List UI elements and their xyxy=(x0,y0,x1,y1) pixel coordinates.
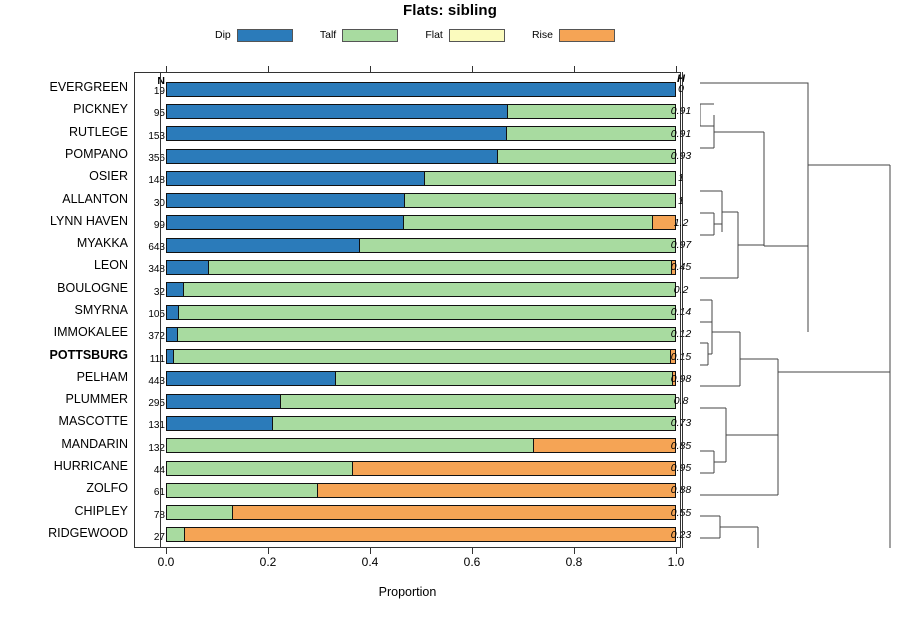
x-tick-label: 0.4 xyxy=(350,555,390,569)
bar-segment-dip xyxy=(167,395,280,408)
row-label: SMYRNA xyxy=(0,303,128,317)
row-label: BOULOGNE xyxy=(0,281,128,295)
legend-swatch-flat xyxy=(449,29,505,42)
bar-segment-dip xyxy=(167,83,675,96)
row-label: ALLANTON xyxy=(0,192,128,206)
row-h-value: 1 xyxy=(664,195,698,207)
row-h-value: 0.91 xyxy=(664,128,698,140)
bar-segment-dip xyxy=(167,306,178,319)
bar-segment-talf xyxy=(506,127,675,140)
row-h-value: 0.12 xyxy=(664,328,698,340)
page-title: Flats: sibling xyxy=(0,2,900,19)
x-tick-top xyxy=(370,66,371,72)
x-tick xyxy=(370,548,371,554)
stacked-bar xyxy=(166,327,676,342)
row-h-value: 0.98 xyxy=(664,373,698,385)
stacked-bar xyxy=(166,193,676,208)
row-label: LEON xyxy=(0,258,128,272)
legend-item-talf: Talf xyxy=(320,29,398,42)
row-h-value: 0.8 xyxy=(664,395,698,407)
row-h-value: 0.14 xyxy=(664,306,698,318)
row-h-value: 0.91 xyxy=(664,105,698,117)
row-h-value: 1 xyxy=(664,172,698,184)
bar-segment-talf xyxy=(272,417,675,430)
x-tick xyxy=(472,548,473,554)
stacked-bar xyxy=(166,461,676,476)
h-column-divider xyxy=(682,72,683,548)
x-tick-top xyxy=(268,66,269,72)
x-tick-label: 1.0 xyxy=(656,555,696,569)
row-h-value: 0.23 xyxy=(664,529,698,541)
row-h-value: 0.55 xyxy=(664,507,698,519)
row-label: POMPANO xyxy=(0,147,128,161)
x-tick xyxy=(676,548,677,554)
row-h-value: 0.88 xyxy=(664,484,698,496)
stacked-bar xyxy=(166,171,676,186)
bar-segment-dip xyxy=(167,127,506,140)
legend-item-rise: Rise xyxy=(532,29,615,42)
bar-segment-talf xyxy=(167,439,533,452)
row-label: ZOLFO xyxy=(0,481,128,495)
row-label: PICKNEY xyxy=(0,102,128,116)
n-column-divider xyxy=(160,72,161,548)
row-label: EVERGREEN xyxy=(0,80,128,94)
row-h-value: 0.95 xyxy=(664,462,698,474)
stacked-bar xyxy=(166,305,676,320)
bar-segment-talf xyxy=(167,484,317,497)
bar-segment-talf xyxy=(183,283,675,296)
legend-swatch-dip xyxy=(237,29,293,42)
legend-label: Talf xyxy=(320,29,336,41)
bar-segment-dip xyxy=(167,172,424,185)
bar-segment-talf xyxy=(403,216,652,229)
stacked-bar xyxy=(166,394,676,409)
x-tick xyxy=(268,548,269,554)
row-h-value: 0.45 xyxy=(664,261,698,273)
bar-segment-rise xyxy=(184,528,675,541)
x-tick-label: 0.6 xyxy=(452,555,492,569)
row-label: PELHAM xyxy=(0,370,128,384)
stacked-bar xyxy=(166,215,676,230)
bar-segment-dip xyxy=(167,239,359,252)
bar-segment-talf xyxy=(167,528,184,541)
bar-segment-dip xyxy=(167,328,177,341)
x-tick-label: 0.2 xyxy=(248,555,288,569)
row-h-value: 0.85 xyxy=(664,440,698,452)
stacked-bar xyxy=(166,438,676,453)
bar-segment-rise xyxy=(533,439,675,452)
bar-segment-dip xyxy=(167,417,272,430)
stacked-bar xyxy=(166,416,676,431)
row-h-value: 0.97 xyxy=(664,239,698,251)
legend-swatch-rise xyxy=(559,29,615,42)
stacked-bar xyxy=(166,238,676,253)
stacked-bar xyxy=(166,260,676,275)
bar-segment-talf xyxy=(497,150,675,163)
x-tick-label: 0.8 xyxy=(554,555,594,569)
bar-segment-rise xyxy=(352,462,675,475)
bar-segment-dip xyxy=(167,216,403,229)
legend-item-dip: Dip xyxy=(215,29,293,42)
x-tick-top xyxy=(472,66,473,72)
bar-segment-talf xyxy=(404,194,675,207)
bar-segment-dip xyxy=(167,105,507,118)
row-label: CHIPLEY xyxy=(0,504,128,518)
bar-segment-talf xyxy=(507,105,675,118)
bar-segment-talf xyxy=(167,506,232,519)
row-h-value: 0.2 xyxy=(664,284,698,296)
legend: DipTalfFlatRise xyxy=(215,26,615,44)
row-h-value: 0.15 xyxy=(664,351,698,363)
row-label: MYAKKA xyxy=(0,236,128,250)
legend-label: Dip xyxy=(215,29,231,41)
bar-segment-talf xyxy=(173,350,671,363)
column-header-h: H xyxy=(664,73,698,85)
bar-segment-talf xyxy=(335,372,672,385)
bar-segment-dip xyxy=(167,194,404,207)
x-tick-top xyxy=(574,66,575,72)
bar-segment-dip xyxy=(167,150,497,163)
bar-segment-dip xyxy=(167,372,335,385)
stacked-bar xyxy=(166,483,676,498)
legend-label: Rise xyxy=(532,29,553,41)
row-h-value: 0.73 xyxy=(664,417,698,429)
dendrogram xyxy=(700,72,900,548)
stacked-bar xyxy=(166,126,676,141)
row-label: RUTLEGE xyxy=(0,125,128,139)
stacked-bar xyxy=(166,527,676,542)
x-axis-label: Proportion xyxy=(134,585,681,599)
row-label: OSIER xyxy=(0,169,128,183)
stacked-bar xyxy=(166,371,676,386)
bar-segment-talf xyxy=(178,306,675,319)
bar-segment-talf xyxy=(177,328,675,341)
row-label: RIDGEWOOD xyxy=(0,526,128,540)
bar-segment-talf xyxy=(424,172,675,185)
row-label: PLUMMER xyxy=(0,392,128,406)
stacked-bar xyxy=(166,282,676,297)
x-tick-top xyxy=(676,66,677,72)
bar-segment-dip xyxy=(167,261,208,274)
bar-segment-rise xyxy=(317,484,675,497)
stacked-bar xyxy=(166,349,676,364)
bar-segment-dip xyxy=(167,283,183,296)
x-tick-top xyxy=(166,66,167,72)
legend-item-flat: Flat xyxy=(425,29,505,42)
x-tick xyxy=(574,548,575,554)
bar-segment-rise xyxy=(232,506,675,519)
row-label: HURRICANE xyxy=(0,459,128,473)
row-h-value: 1.2 xyxy=(664,217,698,229)
stacked-bar xyxy=(166,82,676,97)
legend-label: Flat xyxy=(425,29,443,41)
bar-segment-talf xyxy=(167,462,352,475)
row-label: MASCOTTE xyxy=(0,414,128,428)
row-label: IMMOKALEE xyxy=(0,325,128,339)
chart-canvas: Flats: sibling DipTalfFlatRise EVERGREEN… xyxy=(0,0,900,620)
x-tick-label: 0.0 xyxy=(146,555,186,569)
x-tick xyxy=(166,548,167,554)
stacked-bar xyxy=(166,505,676,520)
bar-segment-talf xyxy=(280,395,675,408)
row-label: POTTSBURG xyxy=(0,348,128,362)
row-label: MANDARIN xyxy=(0,437,128,451)
row-label: LYNN HAVEN xyxy=(0,214,128,228)
row-h-value: 0.93 xyxy=(664,150,698,162)
stacked-bar xyxy=(166,104,676,119)
x-axis: 0.00.20.40.60.81.0 xyxy=(134,548,681,588)
stacked-bar xyxy=(166,149,676,164)
bar-segment-talf xyxy=(359,239,675,252)
bar-segment-talf xyxy=(208,261,671,274)
legend-swatch-talf xyxy=(342,29,398,42)
